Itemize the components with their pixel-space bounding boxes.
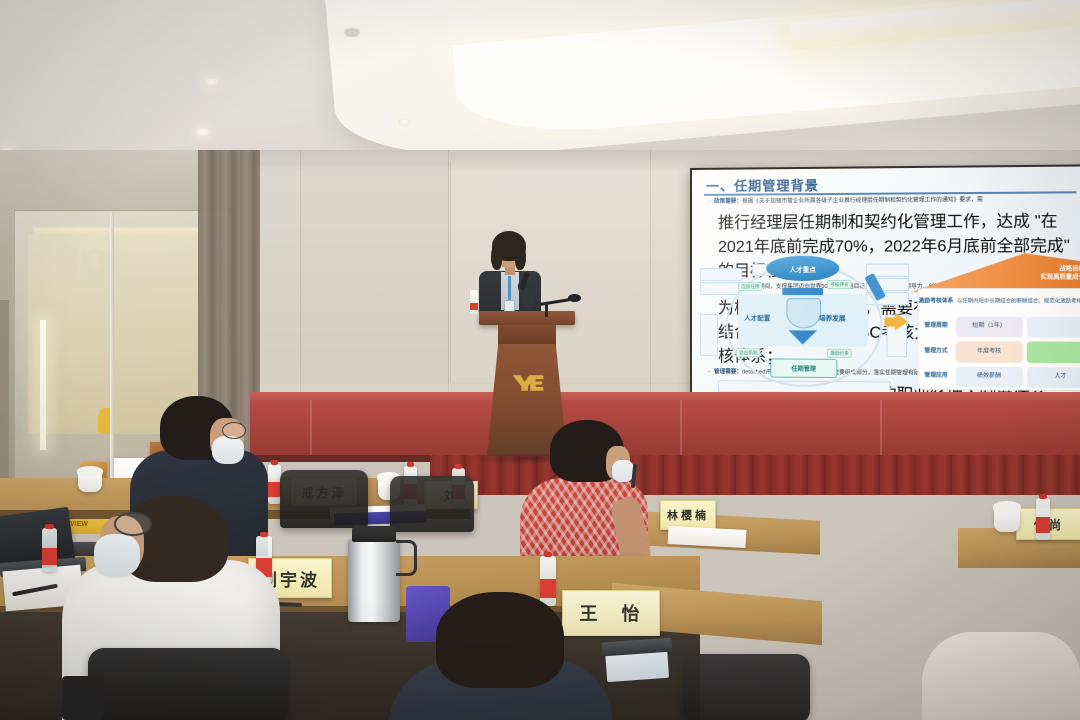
stage-platform-face	[250, 400, 1080, 462]
diagram-tag: 退出机制	[736, 348, 761, 357]
right-arrow-icon	[895, 312, 908, 330]
glasses-icon	[114, 512, 152, 536]
microphone-head-icon	[568, 294, 581, 302]
thermos-flask	[348, 538, 400, 622]
diagram-tag: 选拔任用	[738, 282, 763, 291]
podium-logo	[511, 372, 545, 394]
wall-panel	[260, 162, 451, 382]
table-cell	[1027, 341, 1080, 362]
downlight-icon	[205, 78, 218, 86]
bottle-cap	[544, 552, 553, 557]
diagram-connector-bar	[782, 288, 823, 295]
slide-diagram: 人才重点 人才配置 培养发展 任期管理 选拔任用 考核评价 激励约束 退出机制	[698, 251, 909, 395]
bottle	[470, 290, 478, 314]
diagram-tag: 考核评价	[827, 280, 852, 289]
chair[interactable]	[280, 470, 368, 528]
stage-seam	[680, 400, 682, 462]
chair-arm[interactable]	[62, 676, 104, 720]
row-header: 管理应用	[918, 364, 953, 389]
bottle-label	[42, 548, 57, 565]
table-cell: 绩效薪酬	[956, 366, 1023, 387]
table-row: 管理周期 短期（1年）	[918, 314, 1080, 340]
bullet-label: 政策需要：	[714, 199, 742, 205]
table-row: 管理应用 绩效薪酬 人才	[918, 364, 1080, 390]
diagram-tag: 激励约束	[827, 349, 852, 358]
slide-surface: 一、任期管理背景 - 政策需要：根据《关于加强市管企业所属各级子企业推行经理层任…	[692, 166, 1080, 403]
chair[interactable]	[684, 654, 810, 720]
diagram-right-node: 培养发展	[819, 312, 846, 322]
stage-seam	[880, 400, 882, 462]
diagram-bottom-node: 任期管理	[770, 358, 837, 378]
speaker-hair-left	[491, 246, 502, 270]
microphone-pole	[545, 303, 548, 317]
table-cell: 短期（1年）	[956, 316, 1023, 337]
bullet-item: - 政策需要：根据《关于加强市管企业所属各级子企业推行经理层任期制和契约化管理工…	[708, 195, 1080, 207]
bottle-cap	[45, 524, 53, 529]
bullet-text: 政策需要：根据《关于加强市管企业所属各级子企业推行经理层任期制和契约化管理工作的…	[714, 196, 983, 207]
conference-room-photo: VIEW 一、任期管理背景 - 政策需要：根据《关于加强市管企业所属各级子企业推…	[0, 0, 1080, 720]
row-header: 管理方式	[918, 339, 953, 364]
wall-seam	[650, 150, 651, 410]
door-mullion	[110, 212, 114, 478]
glasses-icon	[222, 422, 246, 439]
row-header: 管理周期	[918, 314, 953, 339]
banner-line-1: 战略目标	[1040, 265, 1080, 273]
diagram-side-box	[700, 268, 742, 281]
bottle-cap	[271, 460, 278, 465]
bottle-cap	[407, 462, 414, 467]
row-header: 激励考核体系	[918, 289, 953, 314]
bottle-label	[540, 579, 556, 598]
podium-top	[479, 311, 575, 325]
table-row: 管理方式 年度考核	[918, 339, 1080, 365]
projection-screen[interactable]: 一、任期管理背景 - 政策需要：根据《关于加强市管企业所属各级子企业推行经理层任…	[690, 164, 1080, 405]
downlight-icon	[196, 128, 209, 136]
attendee-hair	[436, 592, 564, 688]
bottle-cap	[455, 464, 462, 469]
stage-seam	[310, 400, 312, 462]
attendee-torso	[922, 632, 1080, 720]
thermos-cap	[352, 526, 396, 542]
bottle	[540, 556, 556, 606]
diagram-top-node: 人才重点	[766, 256, 839, 281]
teacup-lid	[77, 466, 103, 476]
nameplate: 王 怡	[562, 590, 660, 636]
podium-neck	[498, 325, 556, 345]
downlight-icon	[398, 118, 411, 126]
slide-title: 一、任期管理背景	[706, 175, 819, 195]
bottle-label	[1036, 517, 1050, 533]
table-cell: 以任期内短中长期结合的薪酬组合、规范化激励考核体系	[956, 291, 1080, 312]
diagram-left-node: 人才配置	[744, 312, 770, 322]
speaker-hair-right	[515, 246, 526, 270]
diagram-side-box	[700, 314, 718, 356]
face-mask	[212, 436, 244, 464]
strategy-banner-text: 战略目标 实现高质量成长	[1040, 265, 1080, 282]
bullet-dash-icon: -	[708, 198, 710, 207]
shelf-light	[34, 228, 210, 235]
diagram-down-arrow-icon	[789, 330, 817, 344]
bottle-cap	[1039, 494, 1047, 499]
chair[interactable]	[390, 476, 474, 532]
table-row: 激励考核体系 以任期内短中长期结合的薪酬组合、规范化激励考核体系	[918, 289, 1080, 314]
strip-light	[40, 320, 46, 450]
teacup-lid	[993, 501, 1021, 512]
management-table: 激励考核体系 以任期内短中长期结合的薪酬组合、规范化激励考核体系 管理周期 短期…	[917, 288, 1080, 391]
speaker-lanyard	[508, 276, 511, 302]
bullet-body: 根据《关于加强市管企业所属各级子企业推行经理层任期制和契约化管理工作的通知》要求…	[742, 197, 983, 205]
banner-text: VIEW	[70, 521, 88, 528]
chair[interactable]	[88, 648, 288, 720]
bottle	[42, 528, 57, 572]
table-cell: 人才	[1027, 367, 1080, 389]
nameplate-text: 林樱楠	[667, 507, 709, 523]
table-cell	[1027, 316, 1080, 337]
table-cell: 年度考核	[956, 341, 1023, 362]
face-mask	[94, 534, 140, 576]
bottle-cap	[260, 532, 269, 537]
bottle	[1036, 498, 1050, 540]
thermos-handle[interactable]	[396, 540, 417, 576]
ceiling-vent-icon	[344, 28, 360, 37]
diagram-center-shape	[786, 298, 821, 328]
nameplate-text: 王 怡	[580, 600, 643, 626]
banner-line-2: 实现高质量成长	[1040, 274, 1080, 282]
ceiling	[0, 0, 1080, 170]
